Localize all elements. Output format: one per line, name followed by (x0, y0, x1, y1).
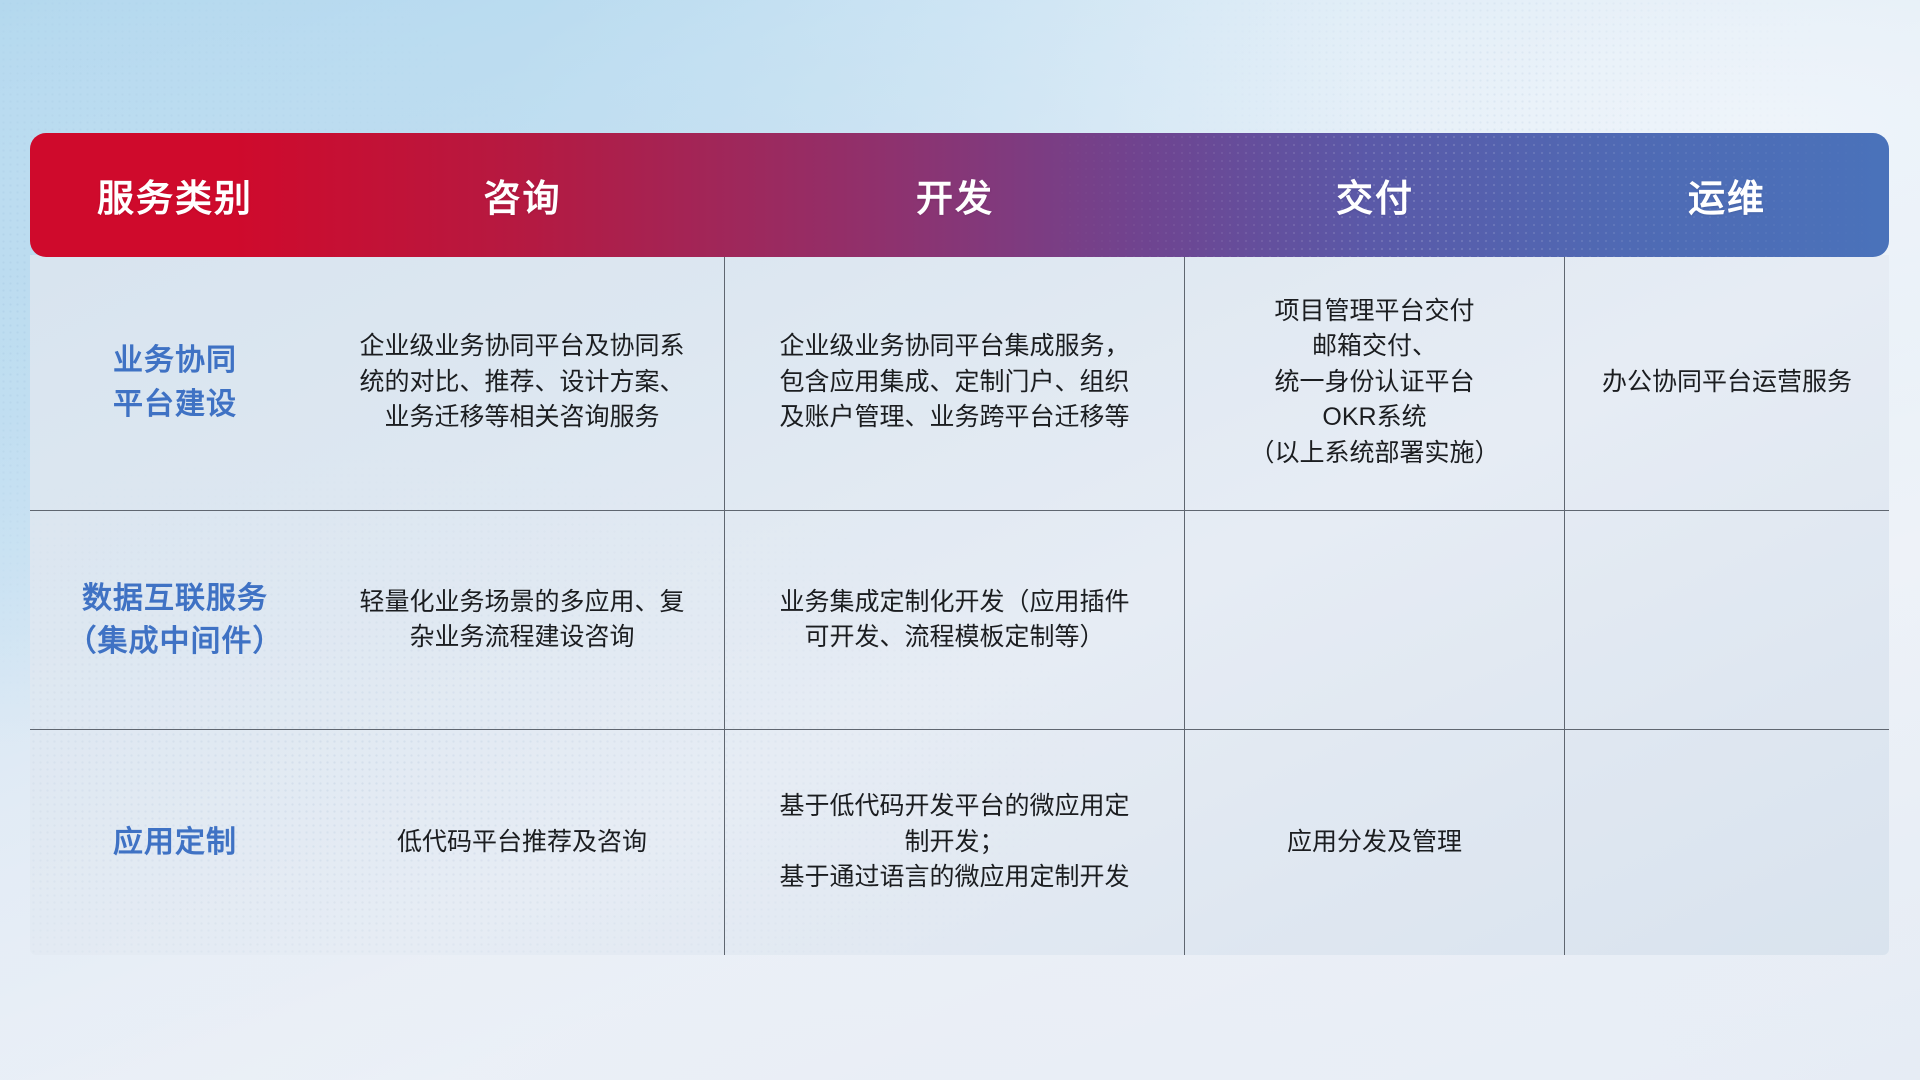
cell-operations (1565, 730, 1889, 955)
column-header-development: 开发 (725, 133, 1185, 257)
column-header-operations: 运维 (1565, 133, 1889, 257)
table-row: 数据互联服务 （集成中间件） 轻量化业务场景的多应用、复 杂业务流程建设咨询 业… (30, 511, 1889, 730)
column-header-delivery: 交付 (1185, 133, 1565, 257)
cell-development: 业务集成定制化开发（应用插件 可开发、流程模板定制等） (725, 511, 1185, 729)
table-header-row: 服务类别 咨询 开发 交付 运维 (30, 133, 1889, 257)
cell-consulting: 轻量化业务场景的多应用、复 杂业务流程建设咨询 (320, 511, 725, 729)
row-category-label: 数据互联服务 （集成中间件） (30, 511, 320, 729)
cell-delivery: 应用分发及管理 (1185, 730, 1565, 955)
cell-delivery: 项目管理平台交付 邮箱交付、 统一身份认证平台 OKR系统 （以上系统部署实施） (1185, 255, 1565, 510)
cell-delivery (1185, 511, 1565, 729)
row-category-label: 业务协同 平台建设 (30, 255, 320, 510)
table-body: 业务协同 平台建设 企业级业务协同平台及协同系 统的对比、推荐、设计方案、 业务… (30, 255, 1889, 955)
table-row: 应用定制 低代码平台推荐及咨询 基于低代码开发平台的微应用定 制开发； 基于通过… (30, 730, 1889, 955)
slide-canvas: 服务类别 咨询 开发 交付 运维 业务协同 平台建设 企业级业务协同平台及协同系… (0, 0, 1920, 1080)
cell-consulting: 低代码平台推荐及咨询 (320, 730, 725, 955)
column-header-consulting: 咨询 (320, 133, 725, 257)
cell-consulting: 企业级业务协同平台及协同系 统的对比、推荐、设计方案、 业务迁移等相关咨询服务 (320, 255, 725, 510)
table-row: 业务协同 平台建设 企业级业务协同平台及协同系 统的对比、推荐、设计方案、 业务… (30, 255, 1889, 511)
cell-development: 基于低代码开发平台的微应用定 制开发； 基于通过语言的微应用定制开发 (725, 730, 1185, 955)
cell-development: 企业级业务协同平台集成服务， 包含应用集成、定制门户、组织 及账户管理、业务跨平… (725, 255, 1185, 510)
column-header-service-category: 服务类别 (30, 133, 320, 257)
row-category-label: 应用定制 (30, 730, 320, 955)
service-matrix-table: 服务类别 咨询 开发 交付 运维 业务协同 平台建设 企业级业务协同平台及协同系… (30, 133, 1889, 953)
cell-operations (1565, 511, 1889, 729)
cell-operations: 办公协同平台运营服务 (1565, 255, 1889, 510)
